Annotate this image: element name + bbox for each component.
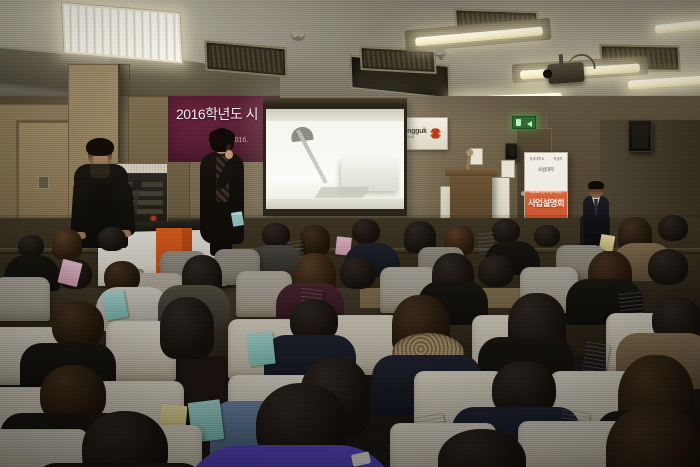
audience-head (52, 301, 104, 349)
wall-notice-sheet (501, 160, 515, 178)
fire-sprinkler-head-icon (435, 48, 445, 55)
slide-bottom-band (266, 199, 404, 209)
vent-grille (364, 50, 433, 70)
slide-top-band (266, 109, 404, 121)
audience-head (52, 229, 82, 259)
ceiling-mounted-projector-icon (547, 62, 584, 84)
banner-title: 2016학년도 시 (176, 104, 258, 124)
audience-brochure (246, 332, 275, 367)
rollup-top-right: 학생처 (554, 156, 563, 161)
audience-head (534, 225, 560, 247)
audience-head (340, 257, 376, 289)
emergency-exit-sign-icon (512, 116, 536, 129)
presenter-hair (86, 138, 114, 156)
auditorium-photo: dongguk university 2016학년도 시 일시 : 2016. … (0, 0, 700, 467)
audience-shoulders (34, 463, 204, 467)
speaker-mesh (632, 124, 648, 148)
presenter-collar (90, 164, 110, 178)
rollup-top-labels: 동국대학교 학생처 (525, 156, 567, 161)
wall-mounted-loudspeaker-icon (505, 143, 518, 160)
exit-running-figure-icon (516, 119, 521, 126)
projector-lens-icon (543, 69, 553, 79)
audience-brochure (102, 289, 129, 320)
audience-head (648, 249, 688, 285)
speaker-mesh (509, 147, 514, 156)
woman-fringe (209, 129, 235, 143)
audience-head (352, 219, 380, 244)
audience-head (262, 223, 290, 247)
woman-hand (225, 150, 233, 159)
slide-shape-shadow (315, 187, 370, 198)
audience-head (492, 219, 520, 243)
vent-grille (209, 45, 284, 74)
recessed-fluorescent-troffer-icon (61, 2, 184, 65)
exit-arrow-icon (527, 121, 532, 127)
audience-brochure (582, 341, 610, 374)
rollup-main-title: 사업설명회 (525, 197, 567, 209)
wall-notice-sheet (38, 176, 49, 189)
projector-mount-arm (559, 54, 564, 65)
audience-head (160, 297, 214, 359)
audience-area (0, 215, 700, 467)
audience-head (18, 235, 44, 257)
slide-shape-block (341, 157, 399, 191)
rollup-top-left: 동국대학교 (530, 156, 545, 161)
audience-head (478, 255, 514, 287)
audience-head (300, 225, 330, 255)
troffer-slats (64, 5, 180, 61)
dongguk-emblem-icon (430, 128, 441, 139)
staff-hair (588, 181, 604, 189)
auditorium-seat (0, 277, 50, 321)
audience-head (658, 215, 688, 241)
projection-screen-surface (266, 109, 404, 209)
rollup-headline: 2016 입학생 대상 (525, 189, 567, 195)
wall-mounted-loudspeaker-icon (628, 120, 652, 152)
fire-sprinkler-head-icon (292, 29, 304, 38)
auditorium-seat (0, 429, 88, 467)
rollup-organisation: 사범대학 (525, 167, 567, 173)
projection-screen-roller (263, 98, 407, 105)
lectern-top (445, 167, 497, 176)
projection-screen (263, 98, 407, 216)
audience-head (98, 227, 126, 251)
